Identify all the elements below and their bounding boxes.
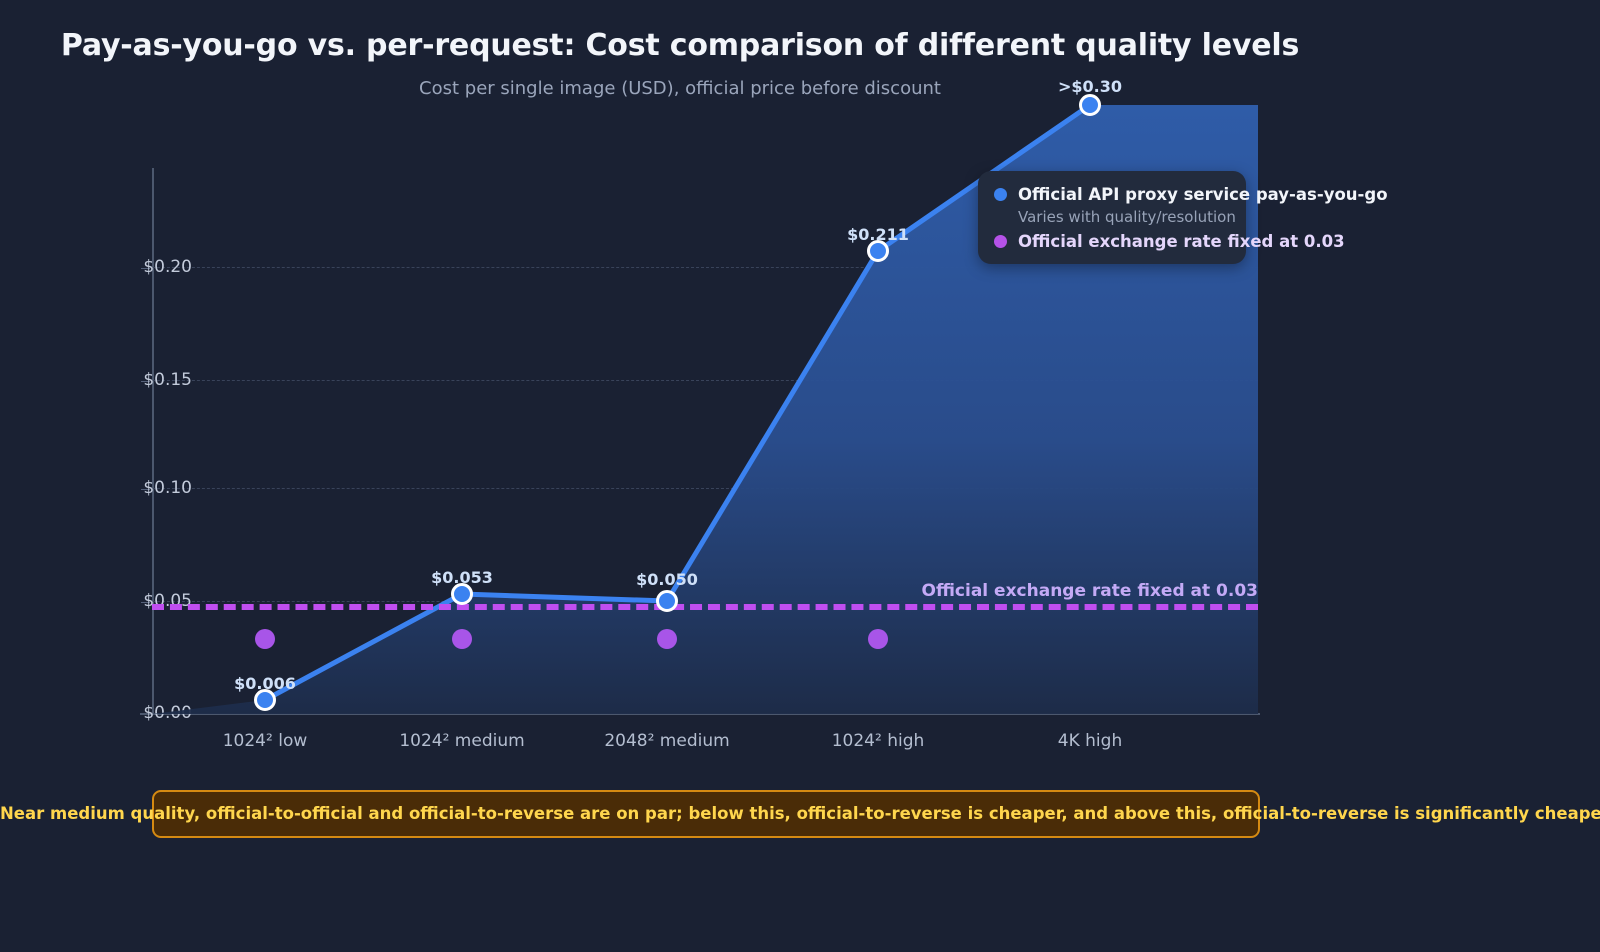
- x-tick-label-4: 4K high: [980, 731, 1200, 751]
- gridline-0.15: [152, 380, 1258, 381]
- fixed-rate-line-label: Official exchange rate fixed at 0.03: [922, 581, 1258, 601]
- legend-label-fixed-rate: Official exchange rate fixed at 0.03: [1018, 232, 1345, 251]
- page-title: Pay-as-you-go vs. per-request: Cost comp…: [0, 28, 1360, 63]
- data-point-label-4: >$0.30: [990, 77, 1190, 96]
- data-point-label-1: $0.053: [362, 568, 562, 587]
- legend-item-pay-as-you-go[interactable]: Official API proxy service pay-as-you-go: [994, 185, 1230, 204]
- y-tick-label-4: $0.20: [102, 257, 192, 277]
- data-point-label-3: $0.211: [778, 225, 978, 244]
- x-tick-label-1: 1024² medium: [352, 731, 572, 751]
- y-tick-label-2: $0.10: [102, 478, 192, 498]
- x-tick-label-3: 1024² high: [768, 731, 988, 751]
- legend-swatch-icon-purple: [994, 235, 1007, 248]
- chart-legend[interactable]: Official API proxy service pay-as-you-go…: [978, 171, 1246, 264]
- y-tick-label-3: $0.15: [102, 370, 192, 390]
- y-tick-label-0: $0.00: [102, 703, 192, 723]
- legend-swatch-icon-blue: [994, 188, 1007, 201]
- data-point-4[interactable]: [1079, 94, 1101, 116]
- fixed-rate-dot-1[interactable]: [452, 629, 472, 649]
- gridline-0.20: [152, 267, 1258, 268]
- fixed-rate-dot-0[interactable]: [255, 629, 275, 649]
- legend-item-fixed-rate[interactable]: Official exchange rate fixed at 0.03: [994, 232, 1230, 251]
- fixed-rate-reference-line: [152, 604, 1258, 610]
- y-axis-line: [152, 168, 154, 715]
- fixed-rate-dot-2[interactable]: [657, 629, 677, 649]
- insight-banner-text: Near medium quality, official-to-officia…: [0, 800, 1600, 828]
- x-tick-label-2: 2048² medium: [557, 731, 777, 751]
- legend-label-pay-as-you-go: Official API proxy service pay-as-you-go: [1018, 185, 1388, 204]
- fixed-rate-dot-3[interactable]: [868, 629, 888, 649]
- data-point-label-0: $0.006: [165, 674, 365, 693]
- gridline-0.10: [152, 488, 1258, 489]
- x-axis-line: [140, 713, 1260, 715]
- legend-sublabel-pay-as-you-go: Varies with quality/resolution: [1018, 208, 1230, 226]
- data-point-label-2: $0.050: [567, 570, 767, 589]
- gridline-0.05: [152, 601, 1258, 602]
- x-tick-label-0: 1024² low: [155, 731, 375, 751]
- data-point-2[interactable]: [656, 590, 678, 612]
